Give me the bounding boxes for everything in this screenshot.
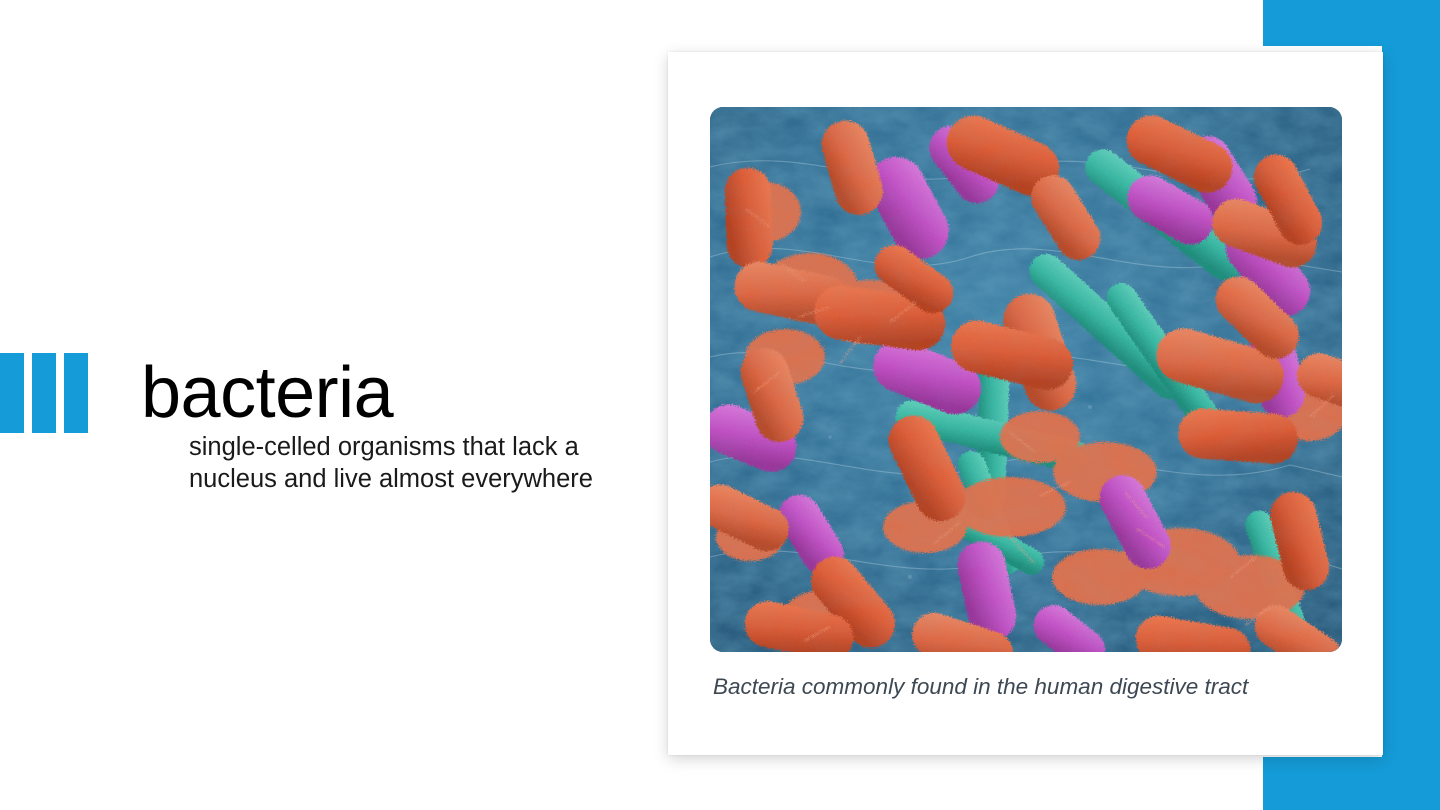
slide: bacteria single-celled organisms that la…	[0, 0, 1440, 810]
accent-bar-2	[32, 353, 56, 433]
accent-strip-right	[1382, 0, 1440, 810]
accent-band-bottom-right	[1263, 757, 1440, 810]
image-caption: Bacteria commonly found in the human dig…	[713, 672, 1333, 702]
accent-bar-1	[0, 353, 24, 433]
three-bar-accent-mark	[0, 353, 89, 433]
page-subtitle: single-celled organisms that lack a nucl…	[189, 431, 649, 495]
photo-card: Bacteria commonly found in the human dig…	[668, 52, 1383, 755]
bacteria-micrograph-image	[710, 107, 1342, 652]
accent-bar-3	[64, 353, 88, 433]
page-title: bacteria	[141, 351, 393, 435]
